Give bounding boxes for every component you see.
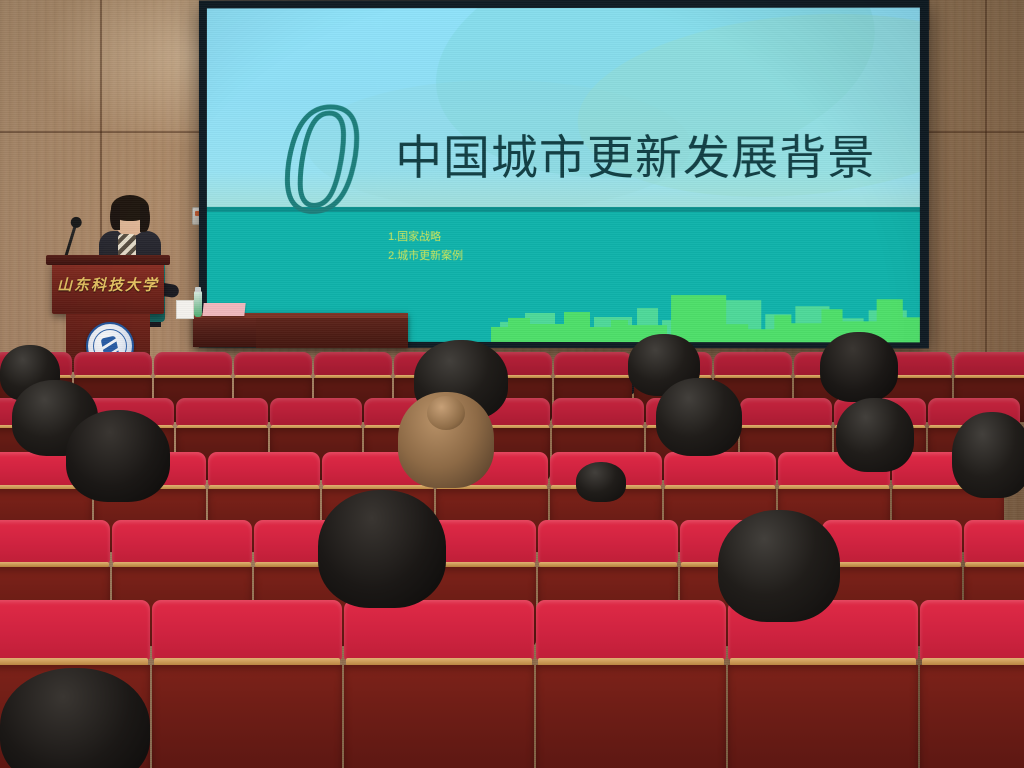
podium-engraved-name: 山东科技大学 [52, 274, 164, 295]
attendee-3 [66, 410, 170, 502]
seat-cushion [152, 600, 342, 660]
presenter-hair-left [110, 204, 120, 230]
skyline-building [530, 323, 564, 342]
projection-screen: 0 中国城市更新发展背景 1.国家战略2.城市更新案例 [207, 8, 920, 343]
attendee-10 [952, 412, 1024, 498]
wall-seam [985, 0, 987, 400]
seat-cushion [920, 600, 1024, 660]
seat-cushion [270, 398, 362, 426]
attendee-13 [0, 668, 150, 768]
attendee-8 [820, 332, 898, 402]
water-bottle [194, 291, 202, 317]
skyline-building [564, 312, 590, 342]
skyline-building [898, 317, 919, 342]
slide-bullet-list: 1.国家战略2.城市更新案例 [388, 228, 463, 264]
name-card [202, 303, 245, 316]
seat-cushion [664, 452, 776, 486]
auditorium-seat[interactable] [920, 600, 1024, 768]
tissue-box [176, 300, 194, 319]
seat-back [728, 665, 918, 768]
seat-cushion [112, 520, 252, 563]
skyline-building [774, 315, 791, 342]
seat-cushion [714, 352, 792, 376]
attendee-11 [318, 490, 446, 608]
slide-bullet-item: 2.城市更新案例 [388, 246, 463, 264]
podium-top-surface [46, 255, 170, 265]
seat-cushion [0, 600, 150, 660]
seat-cushion [538, 520, 678, 563]
lecture-hall-photo: 0 中国城市更新发展背景 1.国家战略2.城市更新案例 山东科技大学 [0, 0, 1024, 768]
hair-bun [427, 396, 465, 431]
seat-cushion [74, 352, 152, 376]
seat-cushion [234, 352, 312, 376]
wall-seam [928, 131, 1024, 133]
seat-cushion [740, 398, 832, 426]
attendee-14 [576, 462, 626, 502]
seat-cushion [964, 520, 1024, 563]
slide-section-number: 0 [281, 82, 354, 237]
seat-cushion [954, 352, 1024, 376]
attendee-12 [718, 510, 840, 622]
seat-cushion [154, 352, 232, 376]
seat-cushion [822, 520, 962, 563]
projection-screen-frame: 0 中国城市更新发展背景 1.国家战略2.城市更新案例 [199, 0, 929, 348]
slide-title: 中国城市更新发展背景 [395, 133, 875, 182]
attendee-5 [398, 392, 494, 488]
attendee-9 [836, 398, 914, 472]
auditorium-seat[interactable] [344, 600, 534, 768]
auditorium-seat[interactable] [536, 600, 726, 768]
slide-bullet-item: 1.国家战略 [388, 228, 463, 246]
seat-back [920, 665, 1024, 768]
attendee-7 [656, 378, 742, 456]
skyline-building [727, 324, 748, 343]
seat-cushion [552, 398, 644, 426]
skyline-building [791, 323, 821, 343]
skyline-building [671, 295, 727, 342]
seat-cushion [0, 520, 110, 563]
presenter-hair-right [140, 204, 150, 232]
skyline-building [508, 318, 529, 342]
seat-cushion [314, 352, 392, 376]
bottle-cap [195, 287, 201, 292]
skyline-building [590, 327, 611, 342]
podium: 山东科技大学 [52, 262, 164, 314]
skyline-building [748, 330, 774, 343]
auditorium-seat[interactable] [152, 600, 342, 768]
seat-cushion [536, 600, 726, 660]
seat-cushion [554, 352, 632, 376]
auditorium-seat[interactable] [728, 600, 918, 768]
seat-cushion [344, 600, 534, 660]
front-desk-secondary [256, 318, 408, 348]
seat-back [536, 665, 726, 768]
seat-back [152, 665, 342, 768]
seat-back [344, 665, 534, 768]
seat-cushion [176, 398, 268, 426]
seat-cushion [208, 452, 320, 486]
skyline-building [611, 320, 628, 342]
